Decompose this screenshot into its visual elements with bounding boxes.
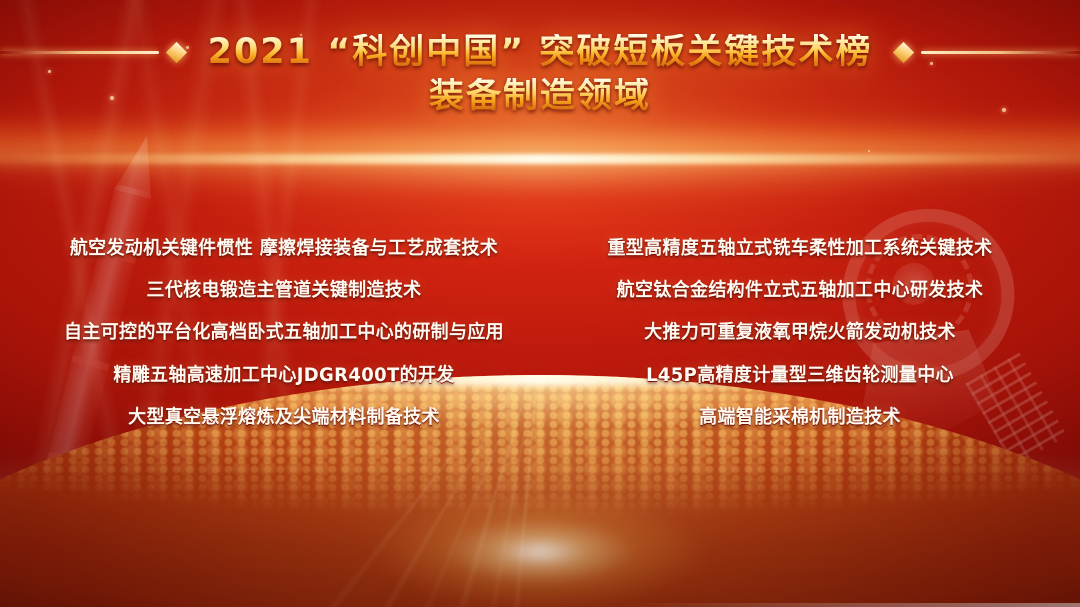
- diamond-ornament-icon: [893, 42, 914, 63]
- technology-list-right-column: 重型高精度五轴立式铣车柔性加工系统关键技术 航空钛合金结构件立式五轴加工中心研发…: [542, 238, 1080, 429]
- list-item: L45P高精度计量型三维齿轮测量中心: [550, 365, 1051, 387]
- poster-canvas: 2021 “科创中国” 突破短板关键技术榜 装备制造领域 航空发动机关键件惯性 …: [0, 0, 1080, 607]
- horizontal-light-streak: [0, 154, 1080, 164]
- bottom-edge-strip: [620, 603, 1080, 607]
- list-item: 三代核电锻造主管道关键制造技术: [34, 280, 535, 302]
- list-item: 航空钛合金结构件立式五轴加工中心研发技术: [550, 280, 1051, 302]
- poster-title-block: 2021 “科创中国” 突破短板关键技术榜 装备制造领域: [0, 34, 1080, 116]
- list-item: 重型高精度五轴立式铣车柔性加工系统关键技术: [550, 238, 1051, 260]
- list-item: 大推力可重复液氧甲烷火箭发动机技术: [550, 322, 1051, 344]
- light-streak-halo: [0, 138, 1080, 182]
- technology-list-left-column: 航空发动机关键件惯性 摩擦焊接装备与工艺成套技术 三代核电锻造主管道关键制造技术…: [0, 238, 542, 429]
- title-rule-right: [921, 51, 1080, 54]
- page-subtitle: 装备制造领域: [0, 78, 1080, 116]
- diamond-ornament-icon: [165, 42, 186, 63]
- light-streak-glow-above: [0, 112, 1080, 162]
- list-item: 精雕五轴高速加工中心JDGR400T的开发: [34, 365, 535, 387]
- list-item: 航空发动机关键件惯性 摩擦焊接装备与工艺成套技术: [34, 238, 535, 260]
- ember-spark: [868, 150, 870, 152]
- technology-list: 航空发动机关键件惯性 摩擦焊接装备与工艺成套技术 三代核电锻造主管道关键制造技术…: [0, 238, 1080, 429]
- title-primary-row: 2021 “科创中国” 突破短板关键技术榜: [0, 34, 1080, 72]
- rocket-nose-cone: [114, 132, 165, 199]
- list-item: 大型真空悬浮熔炼及尖端材料制备技术: [34, 407, 535, 429]
- page-title: 2021 “科创中国” 突破短板关键技术榜: [194, 34, 887, 72]
- title-rule-left: [0, 51, 159, 54]
- list-item: 高端智能采棉机制造技术: [550, 407, 1051, 429]
- list-item: 自主可控的平台化高档卧式五轴加工中心的研制与应用: [34, 322, 535, 344]
